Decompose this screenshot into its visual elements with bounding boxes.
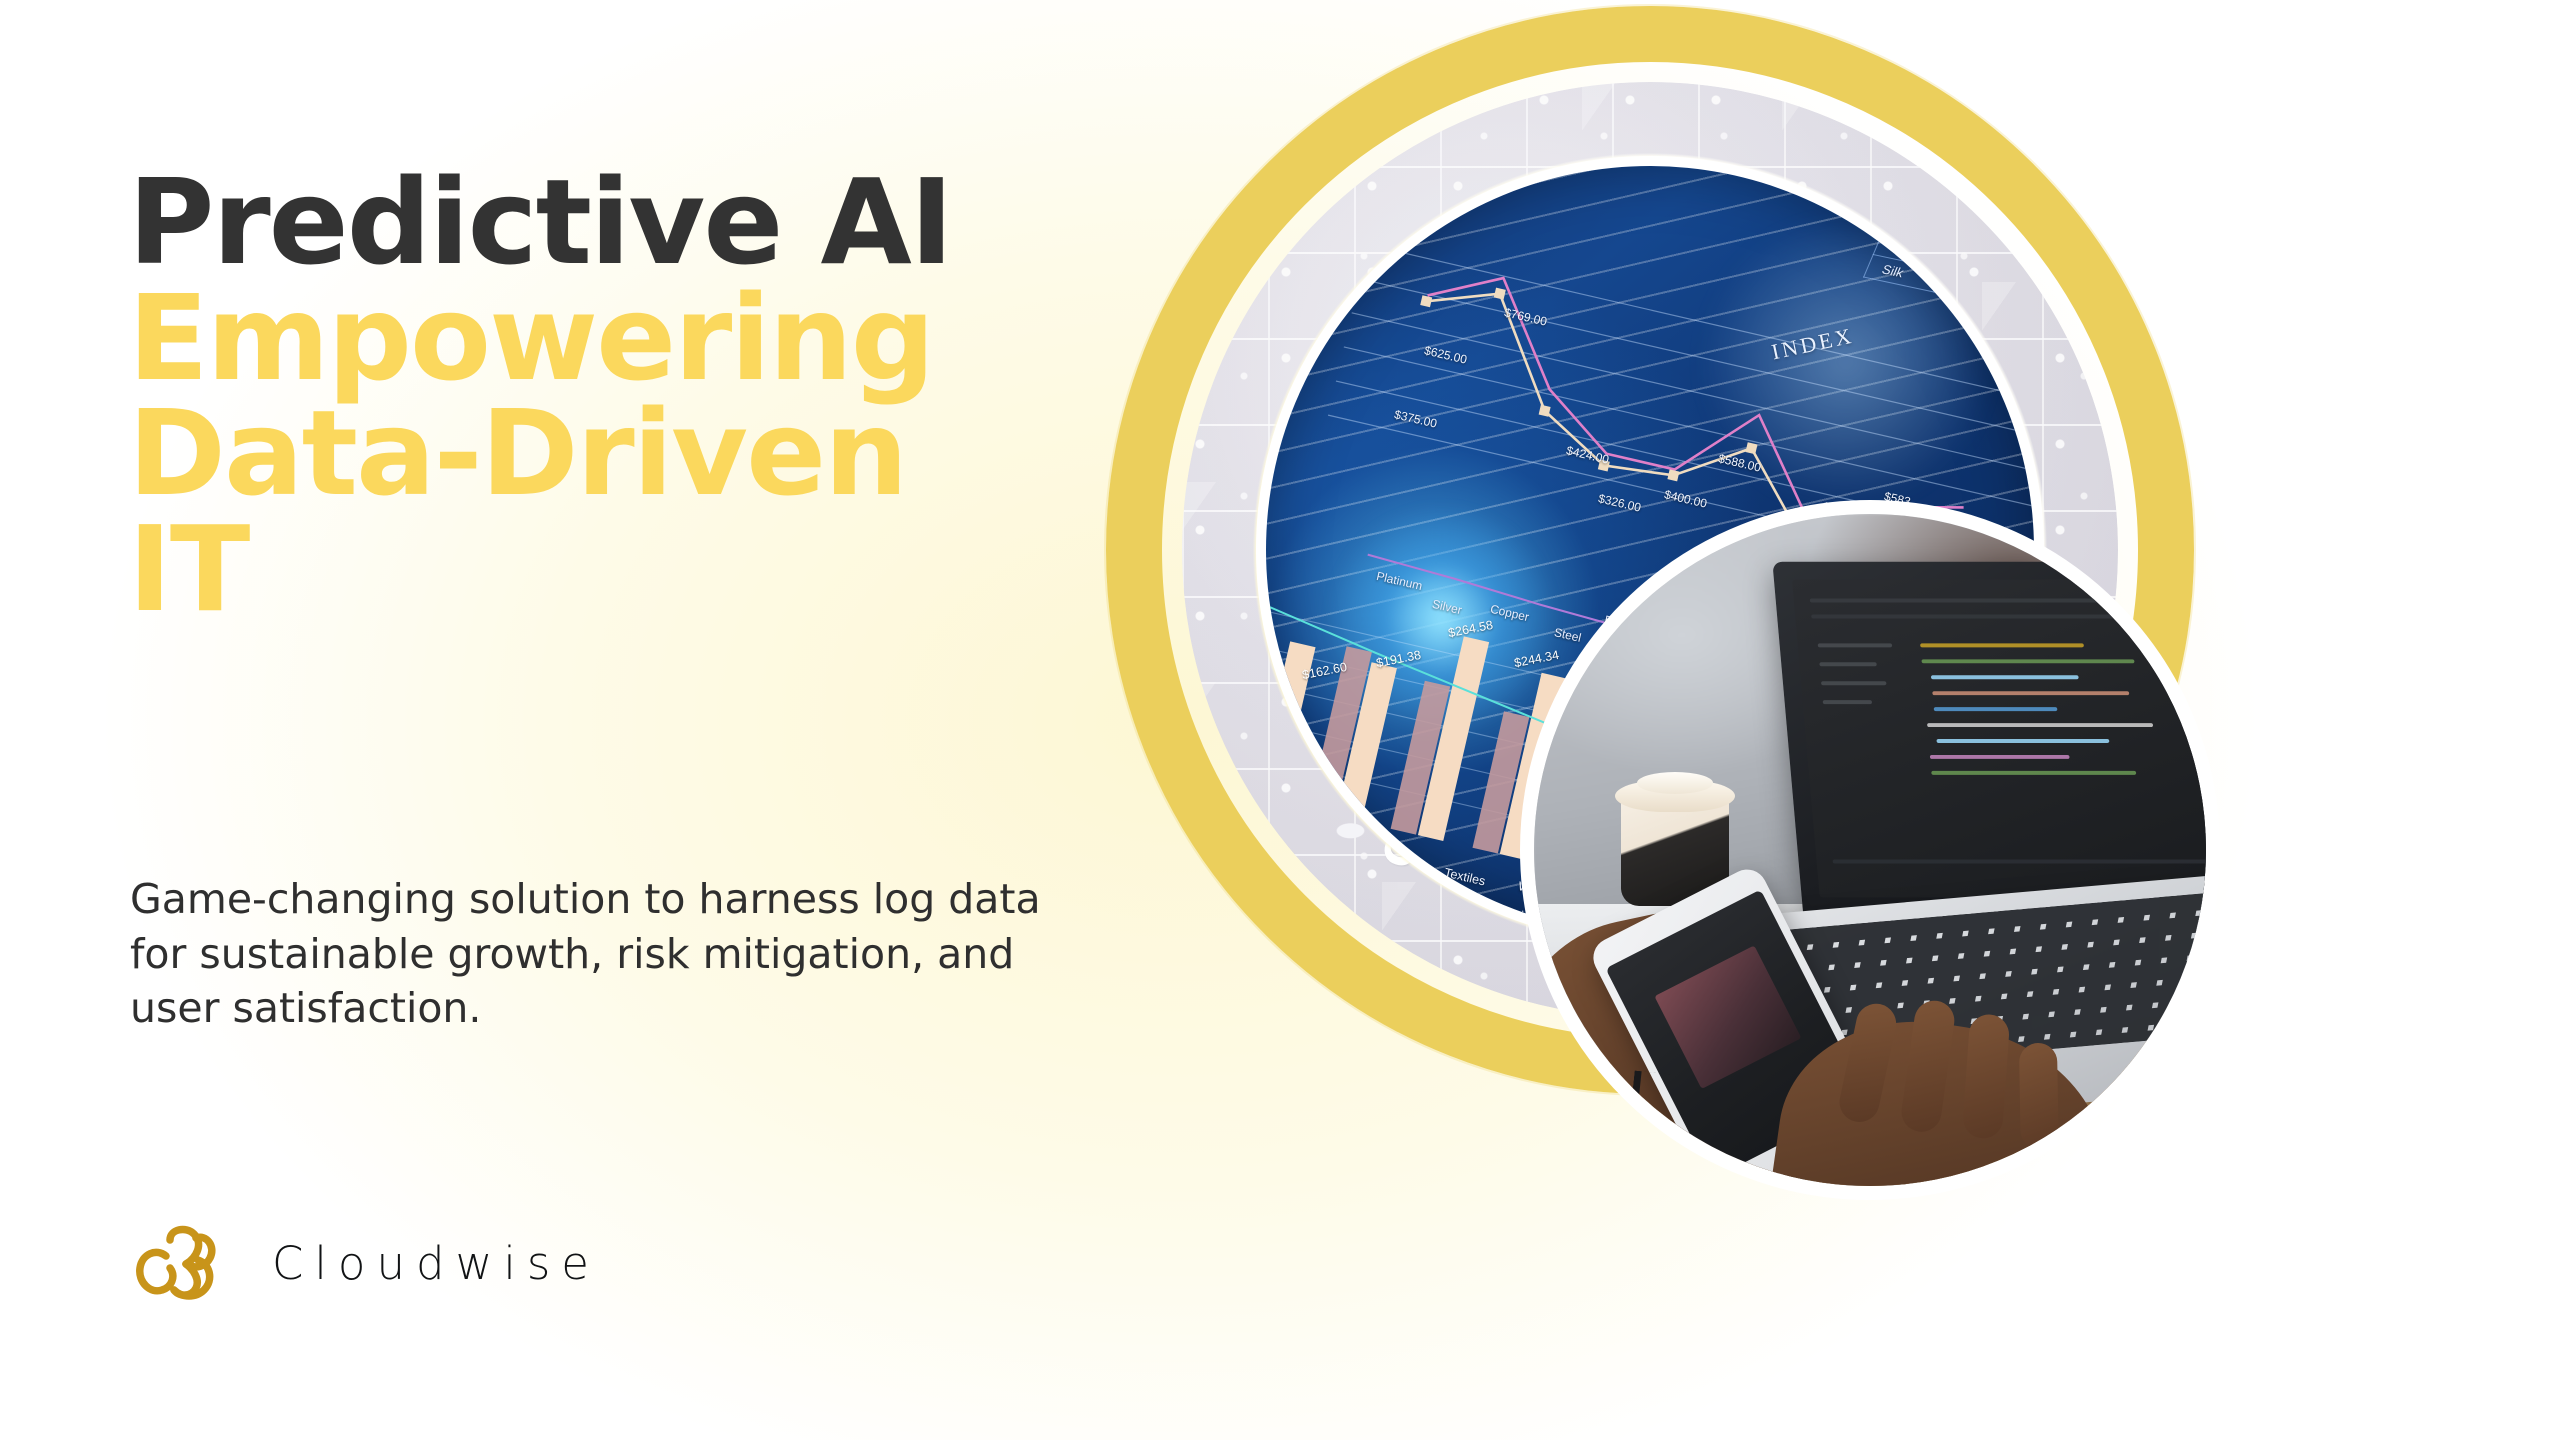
headline-line-1: Predictive AI (128, 165, 1138, 281)
headline-block: Predictive AI Empowering Data-Driven IT (128, 165, 1138, 628)
brand-logo[interactable]: Cloudwise (130, 1222, 600, 1304)
headline-line-2: Empowering (128, 281, 1138, 397)
cloud-infinity-icon (130, 1222, 242, 1304)
laptop-screen (1792, 580, 2220, 898)
decorative-ring-stage: C134 869 C128 INDEX (1060, 0, 2560, 1440)
headline-line-3: Data-Driven (128, 396, 1138, 512)
developer-photo-circle (1520, 500, 2220, 1200)
cup-lid-top (1637, 772, 1713, 794)
laptop-screen-lid (1773, 562, 2220, 923)
phone-photo-thumbnail (1654, 946, 1800, 1089)
logo-wordmark: Cloudwise (272, 1237, 600, 1290)
headline-line-4: IT (128, 512, 1138, 628)
subtitle-paragraph: Game-changing solution to harness log da… (130, 872, 1090, 1036)
